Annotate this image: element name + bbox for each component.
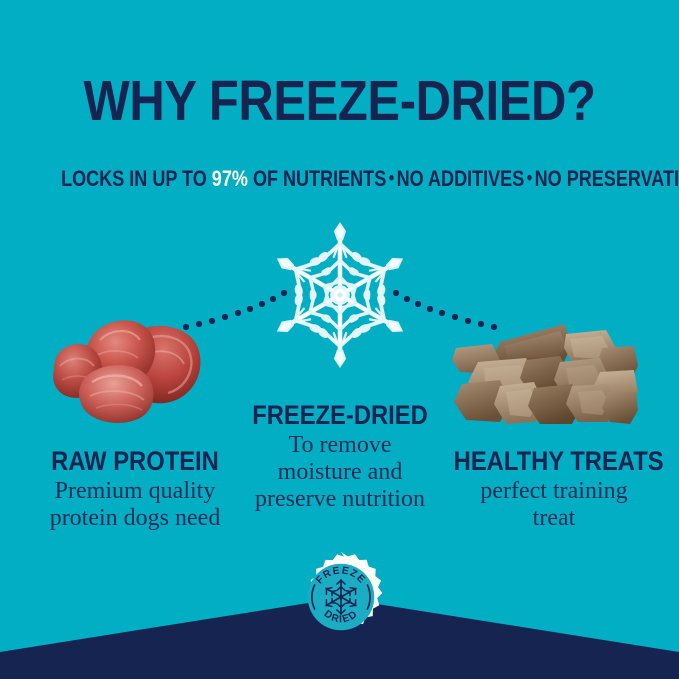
body-line: Premium quality: [10, 478, 260, 505]
subtitle-separator-1: •: [386, 168, 396, 189]
subtitle-part1: LOCKS IN UP TO: [61, 166, 212, 191]
subtitle-claim-2: NO ADDITIVES: [397, 166, 525, 191]
raw-meat-image: [44, 296, 208, 426]
infographic-poster: WHY FREEZE-DRIED? LOCKS IN UP TO 97% OF …: [0, 0, 679, 679]
subtitle-separator-2: •: [524, 168, 534, 189]
freeze-dried-seal-badge: FREEZE DRIED: [296, 548, 386, 646]
body-line: protein dogs need: [10, 505, 260, 532]
freeze-dried-treats-image: [448, 300, 638, 436]
column-title-raw-protein: RAW PROTEIN: [25, 446, 245, 476]
snowflake-icon: [264, 219, 416, 371]
column-healthy-treats: HEALTHY TREATS perfect training treat: [440, 446, 668, 532]
body-line: moisture and: [228, 459, 452, 486]
column-freeze-dried: FREEZE-DRIED To remove moisture and pres…: [228, 400, 452, 513]
column-title-freeze-dried: FREEZE-DRIED: [241, 400, 438, 430]
body-line: preserve nutrition: [228, 486, 452, 513]
body-line: treat: [440, 505, 668, 532]
subtitle-highlight-97: 97%: [212, 166, 248, 191]
column-body-raw-protein: Premium quality protein dogs need: [10, 478, 260, 532]
body-line: perfect training: [440, 478, 668, 505]
page-headline: WHY FREEZE-DRIED?: [48, 72, 632, 130]
body-line: To remove: [228, 432, 452, 459]
subtitle-claims: LOCKS IN UP TO 97% OF NUTRIENTS•NO ADDIT…: [61, 167, 618, 193]
column-raw-protein: RAW PROTEIN Premium quality protein dogs…: [10, 446, 260, 532]
column-body-freeze-dried: To remove moisture and preserve nutritio…: [228, 432, 452, 513]
column-body-healthy-treats: perfect training treat: [440, 478, 668, 532]
subtitle-claim-3: NO PRESERVATIVES: [535, 166, 679, 191]
subtitle-part2: OF NUTRIENTS: [248, 166, 386, 191]
column-title-healthy-treats: HEALTHY TREATS: [454, 446, 655, 476]
